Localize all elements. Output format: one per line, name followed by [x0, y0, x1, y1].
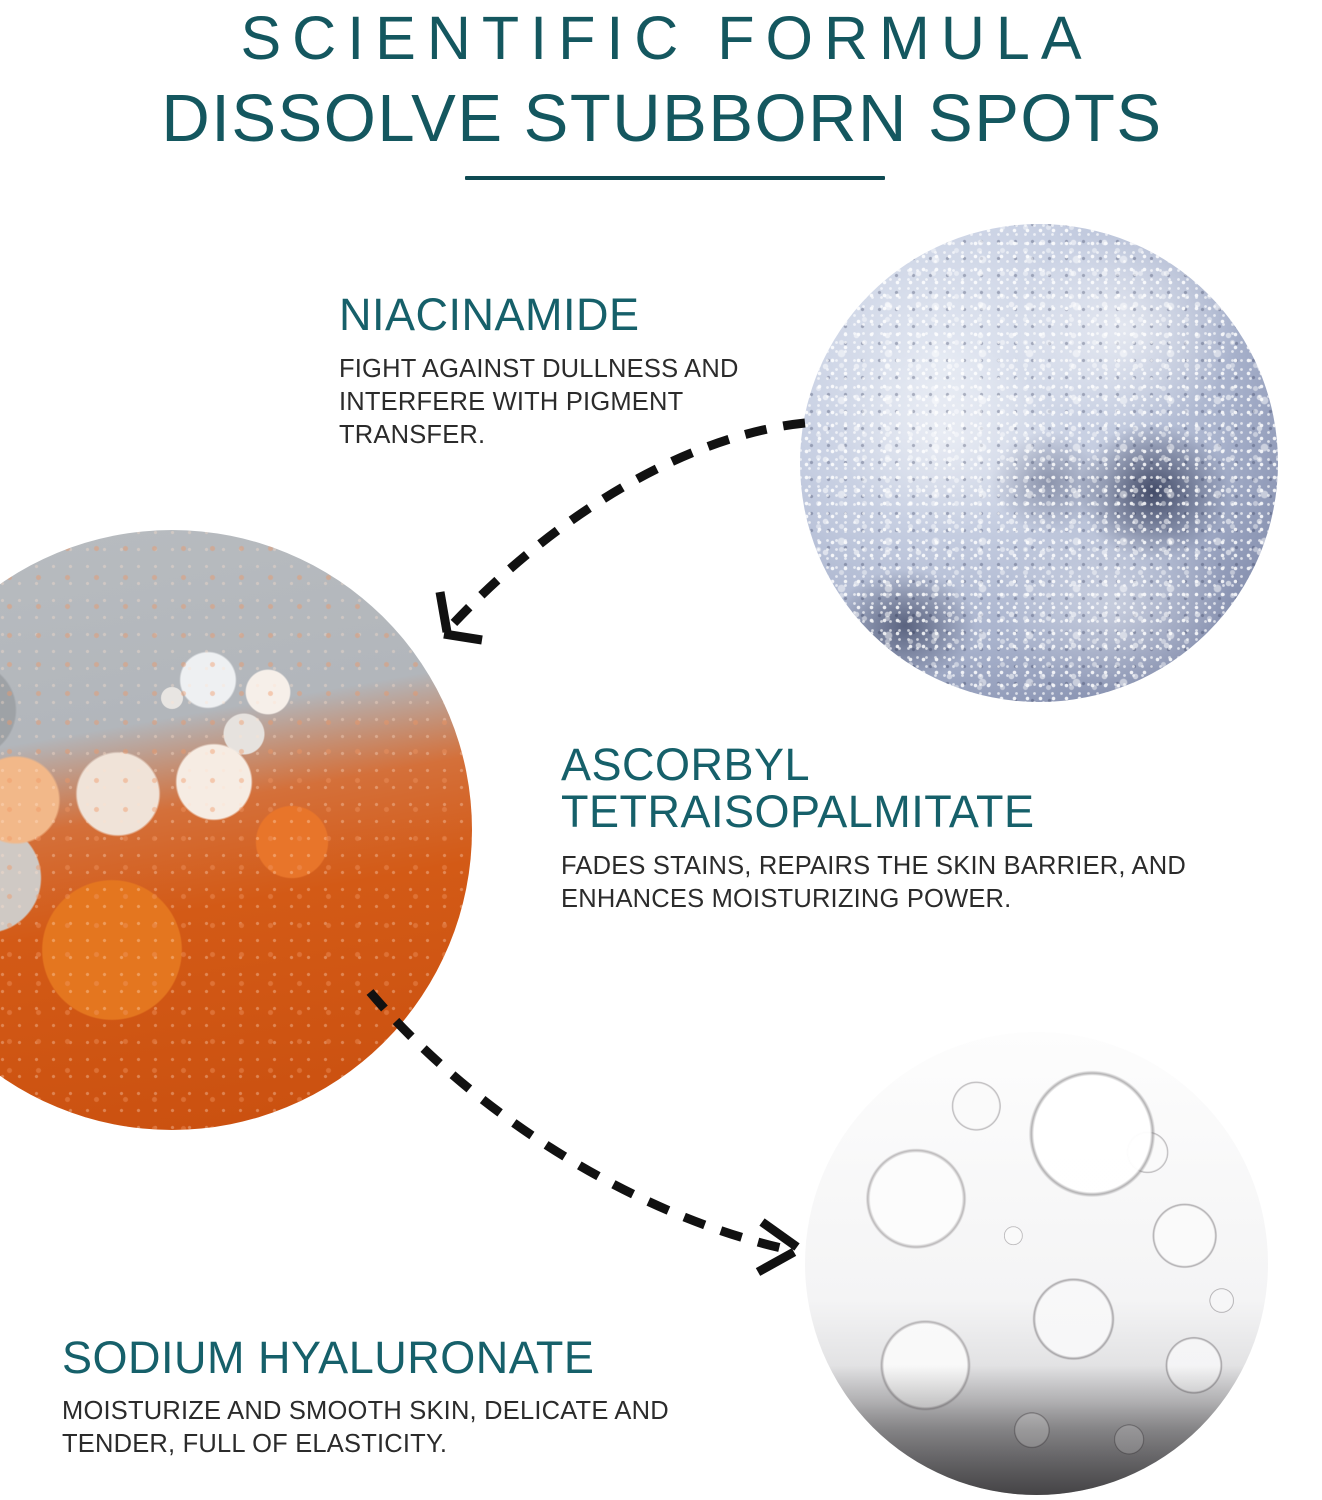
niacinamide-image-circle [800, 224, 1278, 702]
ingredient-title-ascorbyl-line-1: ASCORBYL [561, 742, 1211, 789]
header-title-line-2: DISSOLVE STUBBORN SPOTS [0, 69, 1322, 152]
infographic-page: SCIENTIFIC FORMULA DISSOLVE STUBBORN SPO… [0, 0, 1322, 1500]
ascorbyl-tetraisopalmitate-image-circle [0, 530, 472, 1130]
header-title-line-1: SCIENTIFIC FORMULA [0, 0, 1322, 69]
ingredient-block-ascorbyl-tetraisopalmitate: ASCORBYL TETRAISOPALMITATE FADES STAINS,… [561, 742, 1211, 916]
title-divider [465, 176, 885, 180]
ingredient-description-sodium-hyaluronate: MOISTURIZE AND SMOOTH SKIN, DELICATE AND… [62, 1395, 762, 1461]
sodium-hyaluronate-image-circle [805, 1032, 1268, 1495]
ingredient-block-niacinamide: NIACINAMIDE FIGHT AGAINST DULLNESS AND I… [339, 292, 769, 452]
disc-bubble-texture-large [800, 224, 1278, 702]
ingredient-block-sodium-hyaluronate: SODIUM HYALURONATE MOISTURIZE AND SMOOTH… [62, 1335, 762, 1461]
ingredient-description-niacinamide: FIGHT AGAINST DULLNESS AND INTERFERE WIT… [339, 353, 769, 452]
ingredient-title-sodium-hyaluronate: SODIUM HYALURONATE [62, 1335, 762, 1382]
ingredient-description-ascorbyl: FADES STAINS, REPAIRS THE SKIN BARRIER, … [561, 850, 1211, 916]
arrow-niacinamide-to-ascorbyl [440, 423, 805, 640]
ingredient-title-ascorbyl-line-2: TETRAISOPALMITATE [561, 789, 1211, 836]
disc-speck-texture [0, 530, 472, 1130]
disc-bottom-shadow [805, 1032, 1268, 1495]
page-header: SCIENTIFIC FORMULA DISSOLVE STUBBORN SPO… [0, 0, 1322, 152]
ingredient-title-niacinamide: NIACINAMIDE [339, 292, 769, 339]
